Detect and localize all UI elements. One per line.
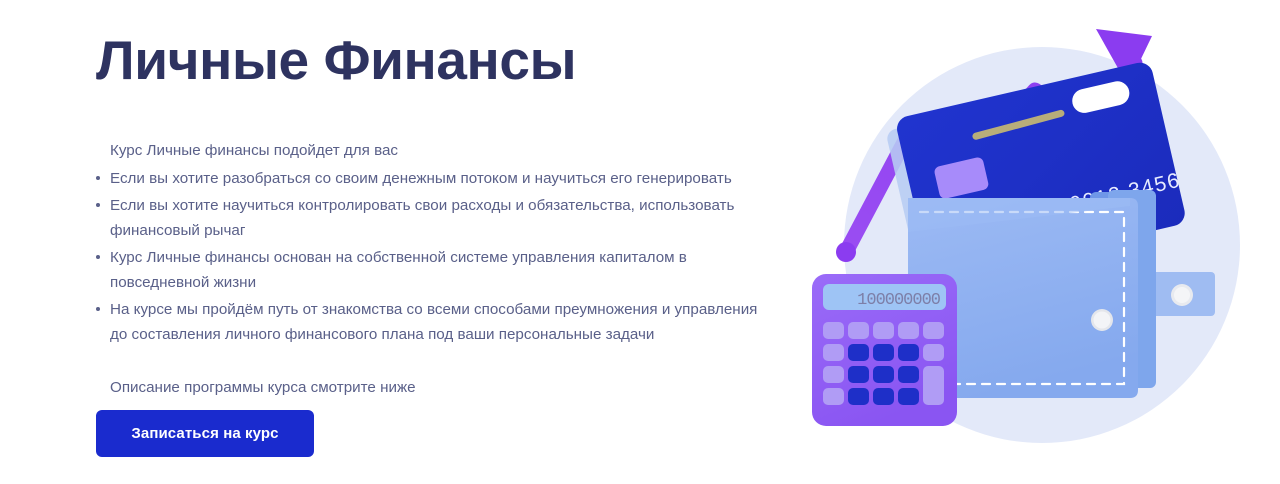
page-title: Личные Финансы bbox=[96, 30, 576, 92]
calculator: 100000000 bbox=[812, 274, 957, 426]
list-item-label: Если вы хотите научиться контролировать … bbox=[110, 197, 734, 239]
closing-paragraph: Описание программы курса смотрите ниже bbox=[110, 375, 776, 400]
list-item: Если вы хотите научиться контролировать … bbox=[96, 193, 776, 243]
calculator-display-value: 100000000 bbox=[857, 291, 941, 310]
hero-copy-block: Курс Личные финансы подойдет для вас Есл… bbox=[96, 138, 776, 400]
bullet-dot-icon bbox=[96, 307, 100, 311]
bullet-dot-icon bbox=[96, 255, 100, 259]
bullet-dot-icon bbox=[96, 203, 100, 207]
list-item-label: Курс Личные финансы основан на собственн… bbox=[110, 249, 687, 291]
list-item-label: Если вы хотите разобраться со своим дене… bbox=[110, 170, 732, 187]
list-item: На курсе мы пройдём путь от знакомства с… bbox=[96, 297, 776, 347]
enroll-button[interactable]: Записаться на курс bbox=[96, 410, 314, 457]
hero-text-column: Личные Финансы Курс Личные финансы подой… bbox=[0, 0, 790, 484]
hero-section: Личные Финансы Курс Личные финансы подой… bbox=[0, 0, 1280, 484]
list-item: Если вы хотите разобраться со своим дене… bbox=[96, 166, 776, 191]
lead-paragraph: Курс Личные финансы подойдет для вас bbox=[110, 138, 776, 163]
hero-illustration-column: 1234 5678 9012 3456 bbox=[790, 0, 1280, 484]
benefit-list: Если вы хотите разобраться со своим дене… bbox=[96, 166, 776, 347]
list-item: Курс Личные финансы основан на собственн… bbox=[96, 245, 776, 295]
list-item-label: На курсе мы пройдём путь от знакомства с… bbox=[110, 301, 757, 343]
bullet-dot-icon bbox=[96, 176, 100, 180]
personal-finance-illustration: 1234 5678 9012 3456 bbox=[790, 0, 1280, 484]
